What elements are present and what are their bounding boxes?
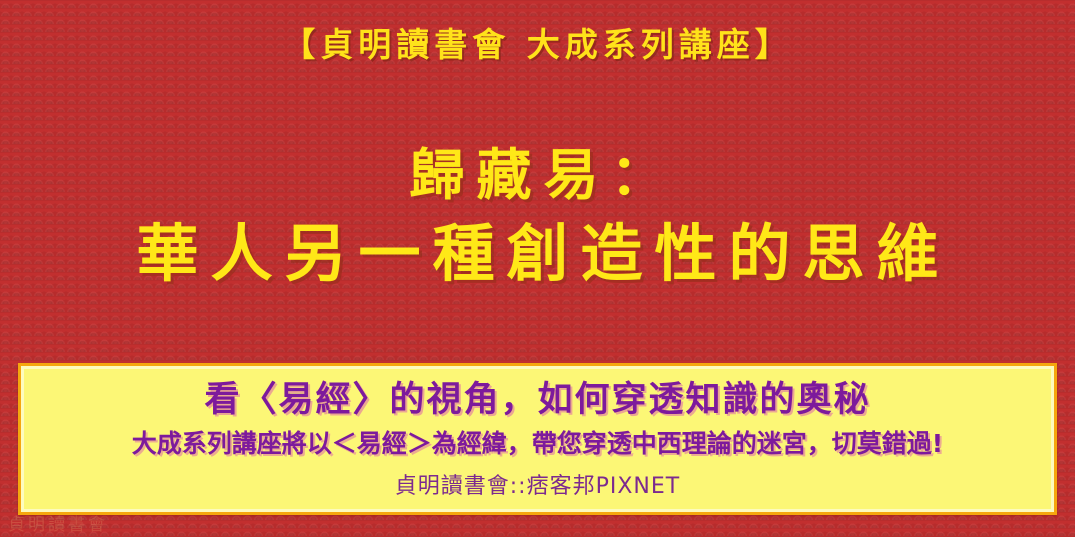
main-title-block: 歸藏易： 華人另一種創造性的思維 xyxy=(0,138,1075,296)
main-title-line-primary: 歸藏易： xyxy=(0,138,1075,212)
panel-source-credit: 貞明讀書會::痞客邦PIXNET xyxy=(21,459,1054,500)
header-title: 【貞明讀書會 大成系列講座】 xyxy=(282,18,793,66)
event-poster: 【貞明讀書會 大成系列講座】 歸藏易： 華人另一種創造性的思維 看〈易經〉的視角… xyxy=(0,0,1075,537)
header-banner: 【貞明讀書會 大成系列講座】 xyxy=(0,18,1075,66)
main-title-line-secondary: 華人另一種創造性的思維 xyxy=(0,212,1075,296)
info-panel: 看〈易經〉的視角，如何穿透知識的奧秘 大成系列講座將以＜易經＞為經緯，帶您穿透中… xyxy=(18,363,1057,515)
panel-headline: 看〈易經〉的視角，如何穿透知識的奧秘 xyxy=(21,366,1054,421)
panel-subline: 大成系列講座將以＜易經＞為經緯，帶您穿透中西理論的迷宮，切莫錯過! xyxy=(21,421,1054,459)
